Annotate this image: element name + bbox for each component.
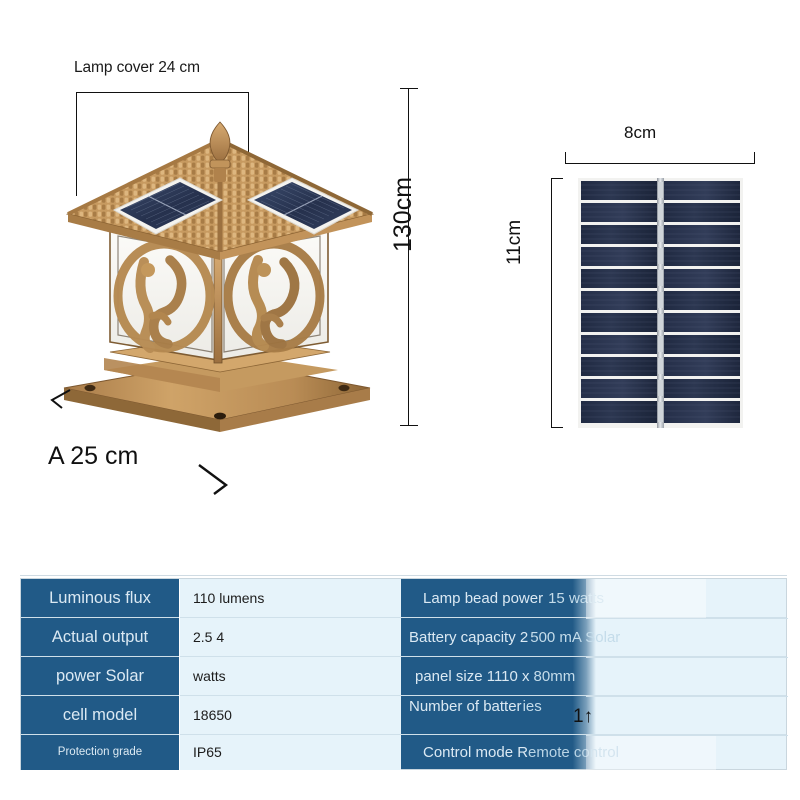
solar-panel-diagram: 8cm 11cm bbox=[520, 110, 790, 450]
row-label-cell-model: cell model bbox=[21, 696, 179, 734]
label-text: Battery capacity 2 bbox=[401, 629, 528, 646]
label-text-faded: 80mm bbox=[530, 668, 576, 685]
label-text: Actual output bbox=[21, 628, 179, 647]
panel-height-label: 11cm bbox=[504, 220, 526, 265]
lamp-svg bbox=[52, 120, 382, 460]
base-angle-mark-left bbox=[48, 388, 74, 410]
label-text-faded: 500 mA Solar bbox=[528, 629, 620, 646]
value-text: 18650 bbox=[179, 706, 232, 724]
row-label-control-mode: Control mode R emote control bbox=[401, 735, 731, 770]
value-text: 110 lumens bbox=[179, 589, 264, 607]
row-label-number-of-batteries: Number of batter ies bbox=[401, 696, 731, 735]
row-value-protection-grade: IP65 bbox=[179, 735, 401, 770]
col-divider-1 bbox=[179, 579, 180, 770]
label-text: power Solar bbox=[21, 667, 179, 686]
spec-sheet-page: Lamp cover 24 cm bbox=[0, 0, 800, 800]
row-value-number-of-batteries: 1↑ bbox=[573, 706, 593, 728]
solar-panel-svg bbox=[578, 178, 743, 428]
label-text: Lamp bead power bbox=[401, 590, 543, 607]
value-text: 2.5 4 bbox=[179, 628, 224, 646]
row-value-cell-model: 18650 bbox=[179, 696, 401, 734]
row-value-luminous-flux: 110 lumens bbox=[179, 579, 401, 617]
table-top-divider bbox=[20, 575, 787, 576]
row-label-luminous-flux: Luminous flux bbox=[21, 579, 179, 617]
specification-table: Luminous flux 110 lumens Actual output 2… bbox=[20, 578, 787, 770]
solar-panel-photo bbox=[578, 178, 743, 428]
panel-width-label: 8cm bbox=[624, 123, 656, 143]
row-label-actual-output: Actual output bbox=[21, 618, 179, 656]
label-text-faded: 15 watts bbox=[543, 590, 604, 607]
value-text: IP65 bbox=[179, 743, 222, 761]
label-text: Protection grade bbox=[21, 746, 179, 759]
total-height-dimension-bracket bbox=[400, 88, 418, 426]
row-value-power-solar: watts bbox=[179, 657, 401, 695]
panel-height-bracket bbox=[551, 178, 563, 428]
value-text: watts bbox=[179, 667, 226, 685]
row-label-lamp-bead-power: Lamp bead power 15 watts bbox=[401, 579, 731, 618]
row-value-actual-output: 2.5 4 bbox=[179, 618, 401, 656]
right-row-divider bbox=[586, 618, 788, 619]
label-text-faded: ies bbox=[522, 696, 542, 715]
solar-post-lamp-illustration bbox=[52, 120, 382, 460]
label-text: Luminous flux bbox=[21, 589, 179, 608]
right-row-divider bbox=[586, 696, 788, 697]
row-label-protection-grade: Protection grade bbox=[21, 735, 179, 770]
right-row-divider bbox=[586, 735, 788, 736]
label-text: panel size 1110 x bbox=[401, 668, 530, 685]
row-label-power-solar: power Solar bbox=[21, 657, 179, 695]
base-width-label: A 25 cm bbox=[48, 442, 138, 471]
panel-width-bracket bbox=[565, 152, 755, 164]
base-angle-mark-right bbox=[196, 463, 232, 497]
total-height-label: 130cm bbox=[389, 177, 418, 252]
row-label-panel-size: panel size 1110 x 80mm bbox=[401, 657, 731, 696]
label-text-faded: emote control bbox=[528, 744, 619, 761]
label-text: cell model bbox=[21, 706, 179, 725]
label-text: Number of batter bbox=[401, 696, 522, 715]
row-label-battery-capacity: Battery capacity 2 500 mA Solar bbox=[401, 618, 731, 657]
lamp-cover-dimension-label: Lamp cover 24 cm bbox=[74, 59, 200, 77]
right-row-divider bbox=[586, 657, 788, 658]
label-text: Control mode R bbox=[401, 744, 528, 761]
product-diagram-area: Lamp cover 24 cm bbox=[0, 0, 800, 570]
